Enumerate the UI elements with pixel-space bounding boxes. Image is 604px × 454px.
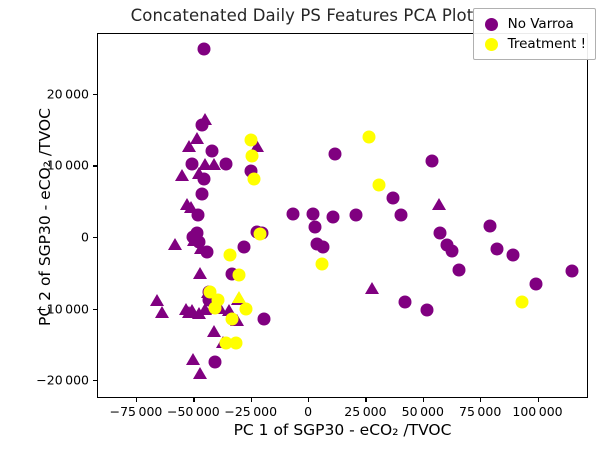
data-point	[446, 244, 459, 257]
legend-label: Treatment !	[508, 36, 586, 52]
data-point	[190, 132, 204, 144]
data-point	[316, 240, 329, 253]
x-axis-tick-label: 25 000	[344, 404, 386, 419]
data-point	[329, 147, 342, 160]
x-axis-tick	[193, 398, 194, 402]
data-point	[209, 355, 222, 368]
x-axis-tick	[136, 398, 137, 402]
data-point	[530, 278, 543, 291]
data-point	[237, 240, 250, 253]
data-point	[175, 169, 189, 181]
data-point	[194, 242, 208, 254]
data-point	[373, 179, 386, 192]
legend-marker-icon	[485, 18, 498, 31]
data-point	[193, 367, 207, 379]
data-point	[306, 207, 319, 220]
legend: No VarroaTreatment !	[473, 8, 596, 60]
data-points-layer	[98, 34, 587, 397]
data-point	[150, 294, 164, 306]
x-axis-tick	[251, 398, 252, 402]
data-point	[425, 154, 438, 167]
x-axis-tick-label: −50 000	[167, 404, 220, 419]
data-point	[168, 238, 182, 250]
data-point	[248, 173, 261, 186]
data-point	[229, 337, 242, 350]
data-point	[315, 257, 328, 270]
x-axis-tick	[308, 398, 309, 402]
data-point	[365, 282, 379, 294]
y-axis-tick	[93, 237, 97, 238]
data-point	[433, 226, 446, 239]
x-axis-tick	[480, 398, 481, 402]
data-point	[386, 191, 399, 204]
data-point	[197, 43, 210, 56]
data-point	[362, 131, 375, 144]
data-point	[258, 312, 271, 325]
data-point	[516, 296, 529, 309]
legend-item[interactable]: No Varroa	[481, 14, 586, 34]
data-point	[205, 144, 218, 157]
data-point	[491, 242, 504, 255]
data-point	[327, 210, 340, 223]
y-axis-tick	[93, 309, 97, 310]
pca-scatter-chart: Concatenated Daily PS Features PCA Plot …	[0, 0, 604, 454]
x-axis-tick-label: 50 000	[402, 404, 444, 419]
data-point	[232, 291, 246, 303]
data-point	[220, 157, 233, 170]
data-point	[287, 207, 300, 220]
legend-label: No Varroa	[508, 16, 574, 32]
data-point	[432, 198, 446, 210]
data-point	[394, 209, 407, 222]
data-point	[223, 249, 236, 262]
x-axis-tick	[423, 398, 424, 402]
plot-area	[97, 33, 588, 398]
data-point	[453, 264, 466, 277]
data-point	[421, 303, 434, 316]
y-axis-tick	[93, 165, 97, 166]
x-axis-tick-label: −75 000	[110, 404, 163, 419]
data-point	[196, 188, 209, 201]
data-point	[155, 306, 169, 318]
legend-item[interactable]: Treatment !	[481, 34, 586, 54]
data-point	[186, 353, 200, 365]
data-point	[198, 113, 212, 125]
data-point	[350, 209, 363, 222]
x-axis-tick-label: 100 000	[512, 404, 562, 419]
data-point	[308, 220, 321, 233]
data-point	[565, 264, 578, 277]
x-axis-tick	[538, 398, 539, 402]
data-point	[245, 150, 258, 163]
data-point	[233, 269, 246, 282]
data-point	[198, 158, 212, 170]
data-point	[226, 312, 239, 325]
x-axis-tick-label: 0	[304, 404, 312, 419]
y-axis-tick-label: 0	[81, 229, 89, 244]
y-axis-label: PC 2 of SGP30 - eCO₂ /TVOC	[36, 17, 54, 417]
x-axis-tick-label: 75 000	[459, 404, 501, 419]
x-axis-tick-label: −25 000	[224, 404, 277, 419]
y-axis-tick	[93, 94, 97, 95]
x-axis-label: PC 1 of SGP30 - eCO₂ /TVOC	[97, 421, 588, 439]
data-point	[399, 296, 412, 309]
data-point	[484, 219, 497, 232]
data-point	[239, 302, 252, 315]
data-point	[244, 133, 257, 146]
data-point	[253, 228, 266, 241]
data-point	[209, 302, 222, 315]
data-point	[507, 249, 520, 262]
x-axis-tick	[365, 398, 366, 402]
data-point	[184, 201, 198, 213]
data-point	[193, 267, 207, 279]
legend-marker-icon	[485, 38, 498, 51]
y-axis-tick	[93, 380, 97, 381]
